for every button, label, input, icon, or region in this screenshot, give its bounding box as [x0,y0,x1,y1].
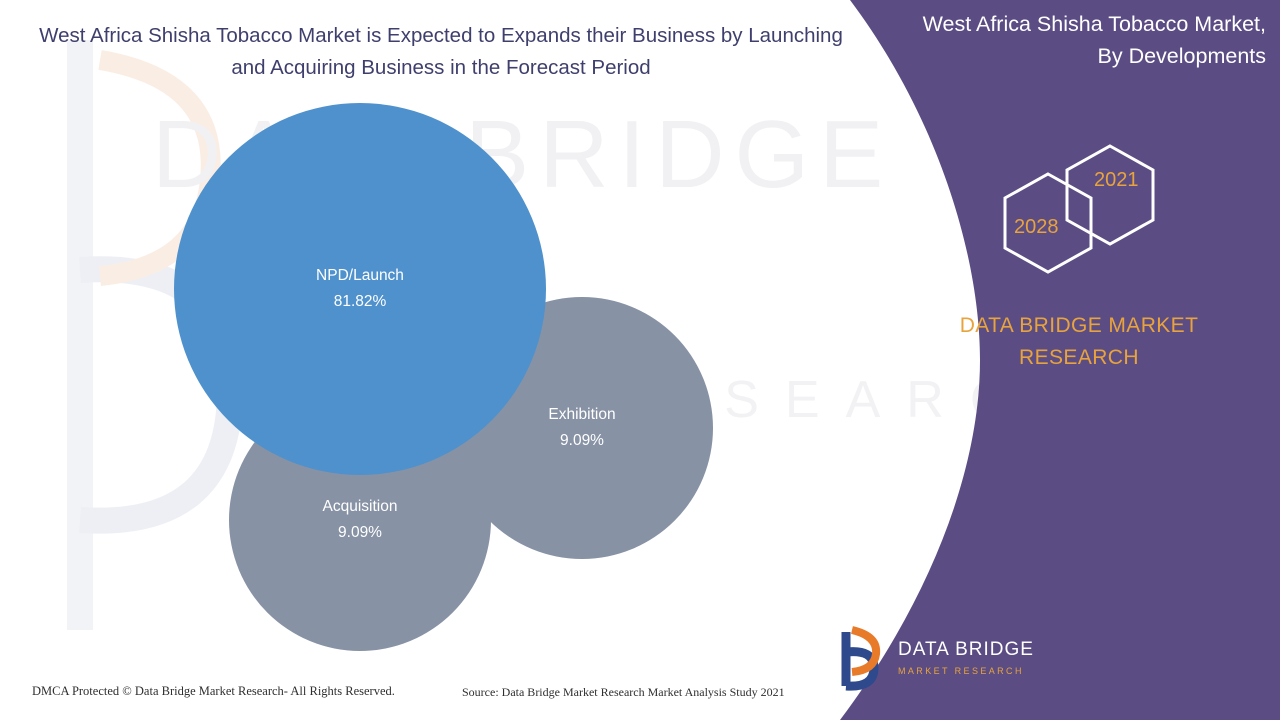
bubble-value: 9.09% [560,428,604,454]
bubble-label: NPD/Launch [316,263,404,289]
hexagon-outlines-icon [990,140,1180,280]
footer-copyright: DMCA Protected © Data Bridge Market Rese… [32,684,395,699]
bubble-label: Exhibition [548,402,615,428]
bubble-npd-launch: NPD/Launch 81.82% [174,103,546,475]
panel-title: West Africa Shisha Tobacco Market, By De… [866,8,1266,72]
bubble-value: 9.09% [338,520,382,546]
data-bridge-logo: DATA BRIDGE MARKET RESEARCH [832,626,1052,692]
svg-text:DATA BRIDGE: DATA BRIDGE [898,639,1034,660]
hexagon-years: 2021 2028 [990,140,1180,280]
panel-title-line2: By Developments [866,40,1266,72]
infographic-canvas: DATA BRIDGE RESEARCH West Africa Shisha … [0,0,1280,720]
panel-title-line1: West Africa Shisha Tobacco Market, [866,8,1266,40]
hex-label-2021: 2021 [1094,169,1139,192]
hex-label-2028: 2028 [1014,216,1059,239]
bubble-value: 81.82% [334,289,387,315]
footer-source: Source: Data Bridge Market Research Mark… [462,685,785,700]
bubble-label: Acquisition [323,494,398,520]
page-title: West Africa Shisha Tobacco Market is Exp… [26,20,856,84]
brand-name: DATA BRIDGE MARKET RESEARCH [914,310,1244,374]
brand-name-line2: RESEARCH [914,342,1244,374]
brand-name-line1: DATA BRIDGE MARKET [914,310,1244,342]
right-panel: West Africa Shisha Tobacco Market, By De… [820,0,1280,720]
svg-text:MARKET RESEARCH: MARKET RESEARCH [898,666,1024,676]
